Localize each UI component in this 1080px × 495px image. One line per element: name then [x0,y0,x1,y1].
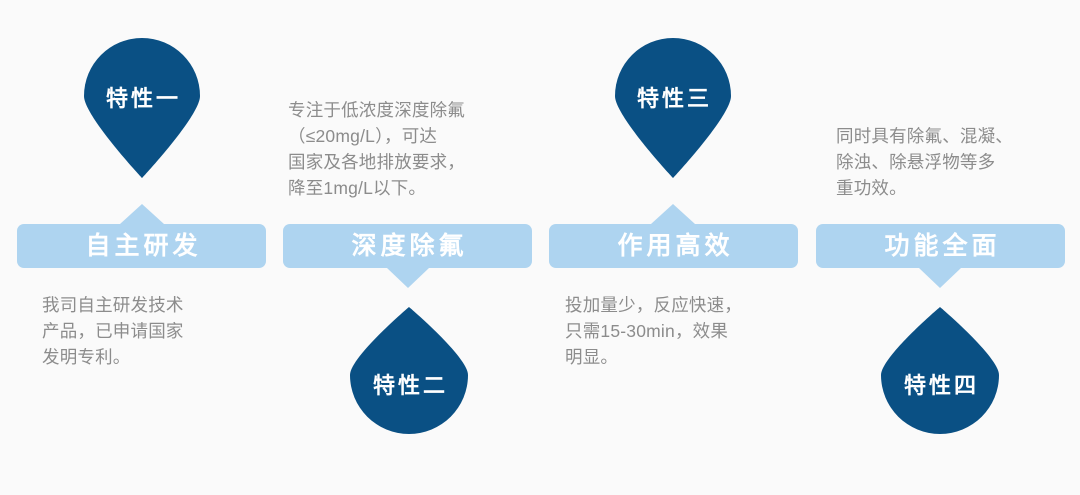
label-bar-feature-1[interactable]: 自主研发 [17,224,266,268]
label-bar-text-3: 作用高效 [613,234,733,259]
label-bar-feature-4[interactable]: 功能全面 [816,224,1065,268]
marker-droplet-feature-4: 特性四 [881,307,999,434]
bar-notch-down-2 [387,268,429,288]
bar-notch-up-3 [651,204,695,224]
body-text-feature-2: 专注于低浓度深度除氟 （≤20mg/L），可达 国家及各地排放要求， 降至1mg… [288,97,538,201]
body-text-feature-4: 同时具有除氟、混凝、 除浊、除悬浮物等多 重功效。 [836,123,1076,201]
marker-droplet-feature-2: 特性二 [350,307,468,434]
infographic-canvas: 特性一 自主研发 我司自主研发技术 产品，已申请国家 发明专利。 专注于低浓度深… [0,0,1080,495]
label-bar-text-1: 自主研发 [81,234,201,259]
label-bar-feature-2[interactable]: 深度除氟 [283,224,532,268]
marker-pin-feature-3: 特性三 [615,38,731,178]
marker-pin-feature-1: 特性一 [84,38,200,178]
bar-notch-down-4 [919,268,961,288]
bar-notch-up-1 [120,204,164,224]
label-bar-text-2: 深度除氟 [347,234,467,259]
label-bar-text-4: 功能全面 [880,234,1000,259]
body-text-feature-3: 投加量少，反应快速， 只需15-30min，效果 明显。 [565,292,805,370]
label-bar-feature-3[interactable]: 作用高效 [549,224,798,268]
body-text-feature-1: 我司自主研发技术 产品，已申请国家 发明专利。 [42,292,272,370]
